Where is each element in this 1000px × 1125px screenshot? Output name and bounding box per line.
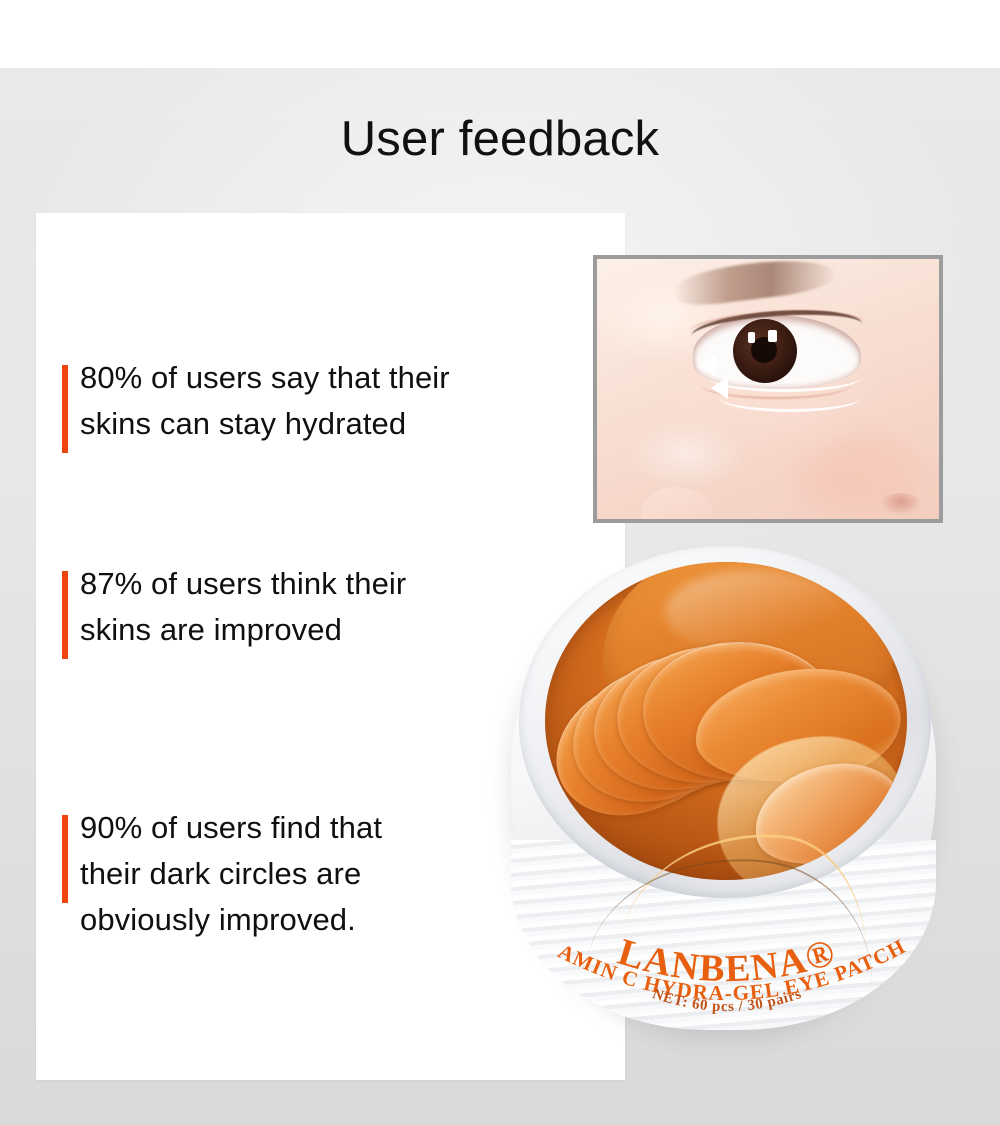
feedback-item-hydration: 80% of users say that their skins can st… — [50, 355, 450, 447]
page-title: User feedback — [0, 110, 1000, 168]
feedback-item-dark-circles: 90% of users find that their dark circle… — [50, 805, 382, 943]
lift-arrow-line-icon — [719, 383, 861, 412]
feedback-item-skin-improvement: 87% of users think their skins are impro… — [50, 561, 406, 653]
eye-closeup-photo — [593, 255, 943, 523]
nostril — [881, 493, 921, 515]
accent-bar-icon — [62, 571, 68, 659]
jar-contents — [545, 562, 907, 880]
top-white-band — [0, 0, 1000, 68]
cheek-highlight — [627, 419, 747, 489]
product-jar-photo: LANBENA® VITAMIN C HYDRA-GEL EYE PATCHES… — [505, 540, 945, 1045]
feedback-item-text: 87% of users think their skins are impro… — [80, 561, 406, 653]
lift-arrow-head-icon — [711, 377, 728, 399]
user-feedback-page: User feedback 80% of users say that thei… — [0, 0, 1000, 1125]
gel-gloss-highlight — [665, 570, 845, 654]
accent-bar-icon — [62, 815, 68, 903]
accent-bar-icon — [62, 365, 68, 453]
feedback-item-text: 80% of users say that their skins can st… — [80, 355, 450, 447]
lift-arrow-head-icon — [699, 355, 716, 377]
feedback-item-text: 90% of users find that their dark circle… — [80, 805, 382, 943]
